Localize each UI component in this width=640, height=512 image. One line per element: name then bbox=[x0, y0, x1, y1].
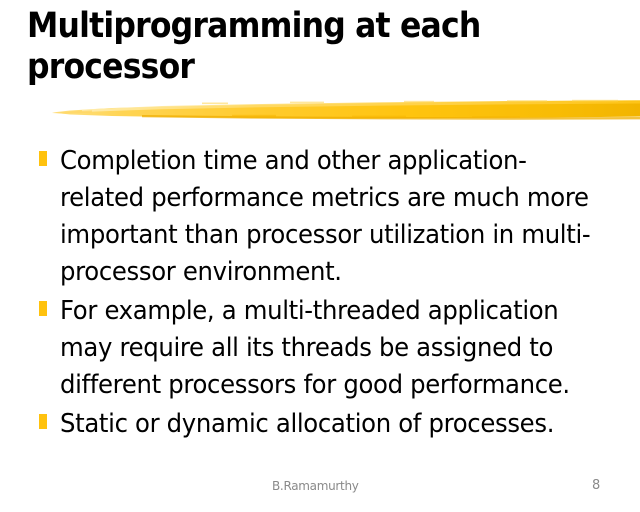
list-item: Completion time and other application-re… bbox=[39, 143, 634, 291]
list-item: For example, a multi-threaded applicatio… bbox=[39, 293, 634, 404]
gold-square-bullet-icon bbox=[39, 151, 47, 166]
list-item-text: Completion time and other application-re… bbox=[60, 143, 608, 291]
footer-page-number: 8 bbox=[592, 479, 600, 493]
list-item: Static or dynamic allocation of processe… bbox=[39, 406, 634, 443]
gold-square-bullet-icon bbox=[39, 414, 47, 429]
page-title: Multiprogramming at each processor bbox=[27, 6, 558, 88]
title-block: Multiprogramming at each processor bbox=[27, 6, 617, 88]
presentation-slide: Multiprogramming at each processor bbox=[0, 0, 640, 512]
list-item-text: Static or dynamic allocation of processe… bbox=[60, 406, 608, 443]
footer-author: B.Ramamurthy bbox=[272, 479, 359, 493]
bullet-list: Completion time and other application-re… bbox=[39, 143, 634, 445]
brushstroke-divider-icon bbox=[52, 92, 640, 126]
gold-square-bullet-icon bbox=[39, 301, 47, 316]
list-item-text: For example, a multi-threaded applicatio… bbox=[60, 293, 608, 404]
